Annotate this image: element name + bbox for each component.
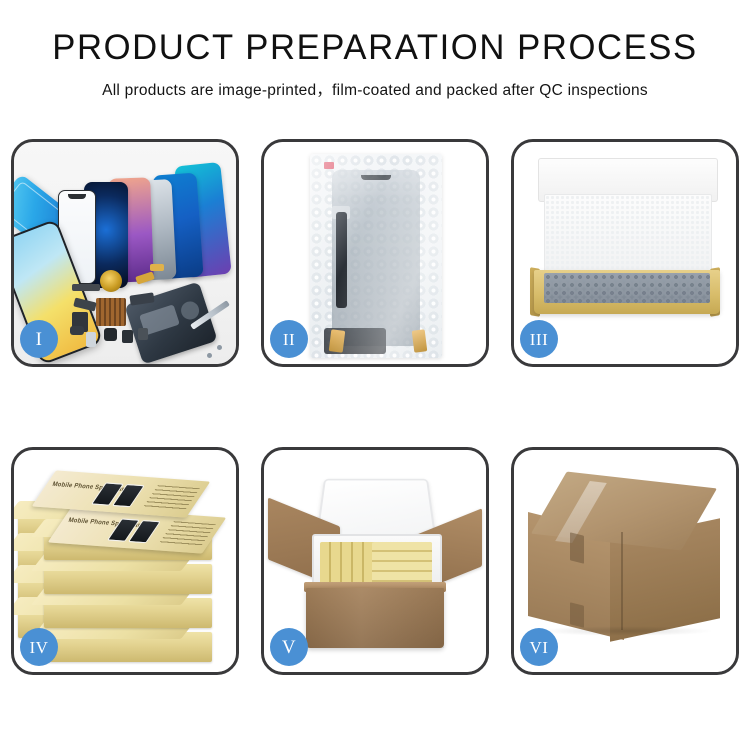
- kraft-box-tray: [534, 270, 720, 314]
- gold-contact-right: [412, 329, 428, 352]
- carton-front-shading: [306, 588, 444, 648]
- step-badge-6: VI: [520, 628, 558, 666]
- carton-seam-upper: [570, 532, 584, 563]
- coil-part: [100, 270, 122, 292]
- stacked-box: [44, 598, 212, 628]
- chip-part: [138, 328, 148, 340]
- qc-sticker: [324, 162, 334, 169]
- carton-body: [306, 588, 444, 648]
- camera-module-part: [104, 328, 117, 341]
- grey-bubble-wrap-insert: [544, 273, 710, 303]
- process-step-panel-5[interactable]: V: [261, 447, 489, 675]
- process-step-panel-2[interactable]: II: [261, 139, 489, 367]
- step-badge-1: I: [20, 320, 58, 358]
- process-step-panel-3[interactable]: III: [511, 139, 739, 367]
- button-part: [122, 330, 133, 343]
- step-badge-2: II: [270, 320, 308, 358]
- page-subtitle: All products are image-printed，film-coat…: [0, 78, 750, 100]
- stacked-box: [44, 564, 212, 594]
- earpiece-part: [70, 326, 84, 335]
- screw-part-2: [217, 345, 222, 350]
- bubble-wrap-bag: [310, 154, 442, 358]
- gold-contact-left: [329, 329, 346, 353]
- screw-part-1: [207, 353, 212, 358]
- speaker-bar-part: [72, 284, 100, 291]
- sealed-shipping-carton: [528, 480, 720, 640]
- page-title: PRODUCT PREPARATION PROCESS: [4, 30, 747, 67]
- packed-retail-boxes-row-2: [372, 542, 432, 586]
- carton-drop-shadow: [538, 626, 714, 636]
- process-step-panel-1[interactable]: I: [11, 139, 239, 367]
- sim-tray-part: [86, 332, 96, 347]
- flex-cable-part-5: [150, 264, 164, 271]
- process-step-grid: I II: [11, 139, 739, 675]
- stacked-box: [44, 632, 212, 662]
- step-badge-5: V: [270, 628, 308, 666]
- mesh-grid-part: [96, 298, 126, 326]
- step-badge-3: III: [520, 320, 558, 358]
- step-badge-4: IV: [20, 628, 58, 666]
- box-spec-lines: [143, 485, 200, 510]
- page-header: PRODUCT PREPARATION PROCESS All products…: [0, 0, 750, 100]
- box-spec-lines: [159, 521, 216, 546]
- flex-ribbon-cable: [336, 212, 347, 308]
- process-step-panel-4[interactable]: Mobile Phone Spare Parts Mobile Phone Sp…: [11, 447, 239, 675]
- carton-vertical-edge: [621, 532, 623, 630]
- carton-seam-lower: [570, 602, 584, 627]
- process-step-panel-6[interactable]: VI: [511, 447, 739, 675]
- screen-notch: [361, 175, 391, 180]
